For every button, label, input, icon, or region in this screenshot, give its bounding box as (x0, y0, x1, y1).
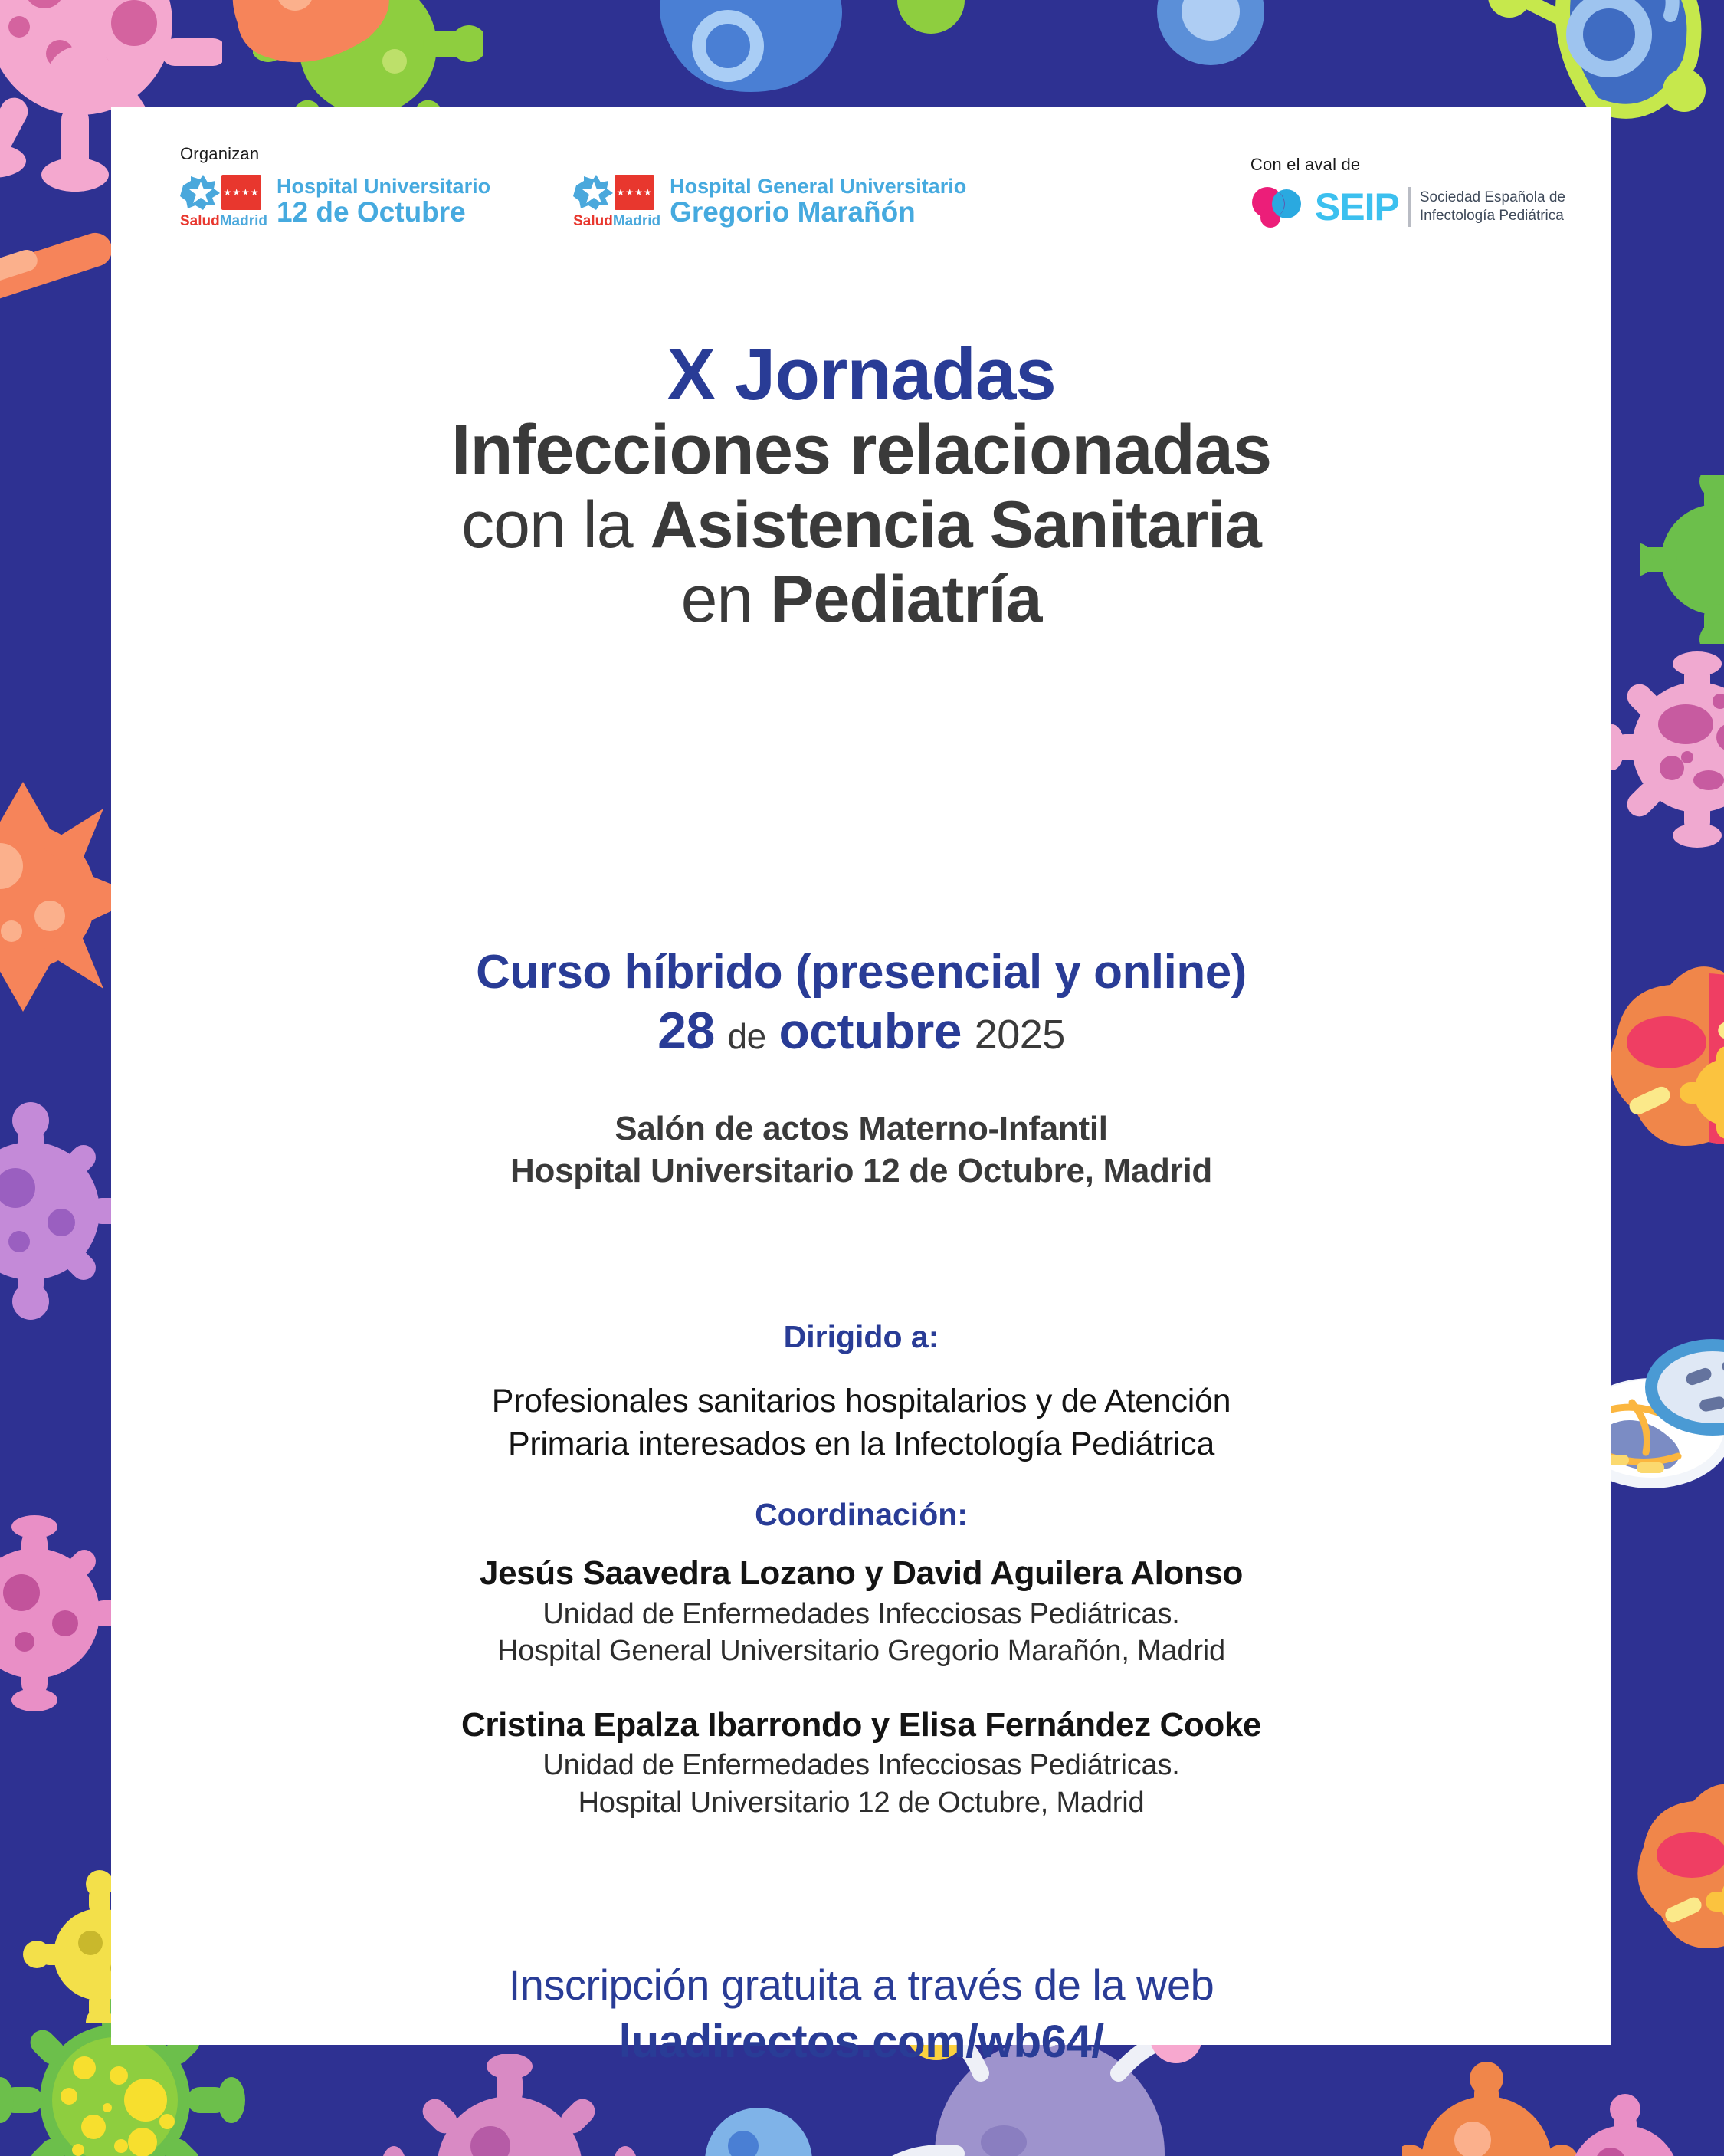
coordination-affiliation-2-line2: Hospital Universitario 12 de Octubre, Ma… (111, 1784, 1611, 1822)
audience-body: Profesionales sanitarios hospitalarios y… (111, 1380, 1611, 1466)
salud-madrid-wordmark-2: SaludMadrid (573, 214, 659, 228)
logo-hospital-12-de-octubre: ★★★★ SaludMadrid Hospital Universitario … (180, 175, 490, 228)
endorsement-caption: Con el aval de (1250, 155, 1360, 175)
organizers-block: Organizan ★★★★ SaludMa (180, 144, 490, 228)
salud-madrid-star-icon (180, 175, 221, 210)
salud-word: Salud (180, 213, 220, 229)
title-line-3-light: con la (461, 488, 650, 562)
salud-madrid-wordmark: SaludMadrid (180, 214, 266, 228)
title-line-4-light: en (681, 563, 771, 636)
coordination-section: Coordinación: Jesús Saavedra Lozano y Da… (111, 1496, 1611, 1821)
registration-text: Inscripción gratuita a través de la web (111, 1958, 1611, 2012)
audience-section: Dirigido a: Profesionales sanitarios hos… (111, 1318, 1611, 1466)
title-line-4: en Pediatría (111, 563, 1611, 636)
dot-blue-topright (1149, 0, 1272, 92)
dot-green-topmid (885, 0, 977, 61)
coordination-group-2: Cristina Epalza Ibarrondo y Elisa Fernán… (111, 1704, 1611, 1822)
coordination-group-1: Jesús Saavedra Lozano y David Aguilera A… (111, 1552, 1611, 1670)
course-date: 28 de octubre 2025 (111, 999, 1611, 1064)
venue-line-2: Hospital Universitario 12 de Octubre, Ma… (111, 1150, 1611, 1192)
venue-info: Salón de actos Materno-Infantil Hospital… (111, 1108, 1611, 1192)
coordination-names-2: Cristina Epalza Ibarrondo y Elisa Fernán… (111, 1704, 1611, 1747)
title-line-4-bold: Pediatría (770, 563, 1041, 636)
coordination-heading: Coordinación: (111, 1496, 1611, 1534)
coordination-affiliation-1-line1: Unidad de Enfermedades Infecciosas Pediá… (111, 1596, 1611, 1633)
course-year: 2025 (975, 1012, 1065, 1058)
virus-orange-top (222, 0, 406, 69)
venue-line-1: Salón de actos Materno-Infantil (111, 1108, 1611, 1150)
logo-seip: SEIP Sociedad Española de Infectología P… (1250, 185, 1565, 228)
hospital-name-2: Hospital General Universitario Gregorio … (670, 176, 966, 226)
salud-madrid-star-icon-2 (573, 175, 615, 210)
registration-section: Inscripción gratuita a través de la web … (111, 1958, 1611, 2072)
title-line-1: X Jornadas (111, 337, 1611, 412)
cell-orange-red-right-lower (1624, 1763, 1724, 1954)
seip-acronym: SEIP (1315, 188, 1399, 226)
seip-subtitle: Sociedad Española de Infectología Pediát… (1420, 189, 1565, 225)
hospital-name-1: Hospital Universitario 12 de Octubre (277, 176, 490, 226)
registration-url[interactable]: luadirectos.com/wb64/ (111, 2012, 1611, 2072)
logo-hospital-gregorio-maranon: ★★★★ SaludMadrid Hospital General Univer… (573, 175, 966, 228)
audience-heading: Dirigido a: (111, 1318, 1611, 1356)
audience-line-2: Primaria interesados en la Infectología … (111, 1423, 1611, 1466)
seip-divider (1408, 187, 1411, 227)
madrid-word: Madrid (220, 213, 267, 229)
virus-pink-right (1601, 651, 1724, 851)
madrid-flag-stars-2: ★★★★ (617, 188, 653, 197)
audience-line-1: Profesionales sanitarios hospitalarios y… (111, 1380, 1611, 1423)
coordination-names-1: Jesús Saavedra Lozano y David Aguilera A… (111, 1552, 1611, 1595)
madrid-flag-icon: ★★★★ (221, 175, 261, 210)
organizers-caption: Organizan (180, 144, 490, 164)
madrid-word-2: Madrid (613, 213, 660, 229)
logo-header: Organizan ★★★★ SaludMa (111, 144, 1611, 228)
title-line-3-bold: Asistencia Sanitaria (651, 488, 1261, 562)
seip-subtitle-line2: Infectología Pediátrica (1420, 207, 1565, 225)
endorsement-block: Con el aval de SEIP Sociedad Española de… (1250, 155, 1565, 228)
course-info: Curso híbrido (presencial y online) 28 d… (111, 947, 1611, 1064)
virus-green-right-upper (1640, 475, 1724, 644)
course-month: octubre (778, 1003, 962, 1059)
cell-orange-red-right (1594, 943, 1724, 1173)
hospital-name-1-line1: Hospital Universitario (277, 176, 490, 198)
course-date-connector: de (728, 1016, 766, 1056)
hospital-name-2-line1: Hospital General Universitario (670, 176, 966, 198)
seip-subtitle-line1: Sociedad Española de (1420, 189, 1565, 207)
organizer-2-block: ★★★★ SaludMadrid Hospital General Univer… (573, 175, 966, 228)
title-line-3: con la Asistencia Sanitaria (111, 488, 1611, 562)
madrid-flag-icon-2: ★★★★ (615, 175, 654, 210)
poster-title: X Jornadas Infecciones relacionadas con … (111, 337, 1611, 636)
madrid-flag-stars: ★★★★ (223, 188, 259, 197)
salud-madrid-mark-2: ★★★★ SaludMadrid (573, 175, 659, 228)
poster-card: Organizan ★★★★ SaludMa (111, 107, 1611, 2045)
title-line-2: Infecciones relacionadas (111, 412, 1611, 488)
hospital-name-2-line2: Gregorio Marañón (670, 198, 966, 227)
virus-blue-topmid (636, 0, 866, 107)
course-day: 28 (657, 1002, 715, 1060)
salud-madrid-mark: ★★★★ SaludMadrid (180, 175, 266, 228)
coordination-affiliation-2-line1: Unidad de Enfermedades Infecciosas Pediá… (111, 1747, 1611, 1784)
hospital-name-1-line2: 12 de Octubre (277, 198, 490, 227)
salud-word-2: Salud (573, 213, 613, 229)
coordination-affiliation-1-line2: Hospital General Universitario Gregorio … (111, 1633, 1611, 1670)
course-format: Curso híbrido (presencial y online) (111, 947, 1611, 999)
seip-mark-icon (1250, 185, 1306, 228)
virus-blue-bottom (674, 2092, 843, 2156)
